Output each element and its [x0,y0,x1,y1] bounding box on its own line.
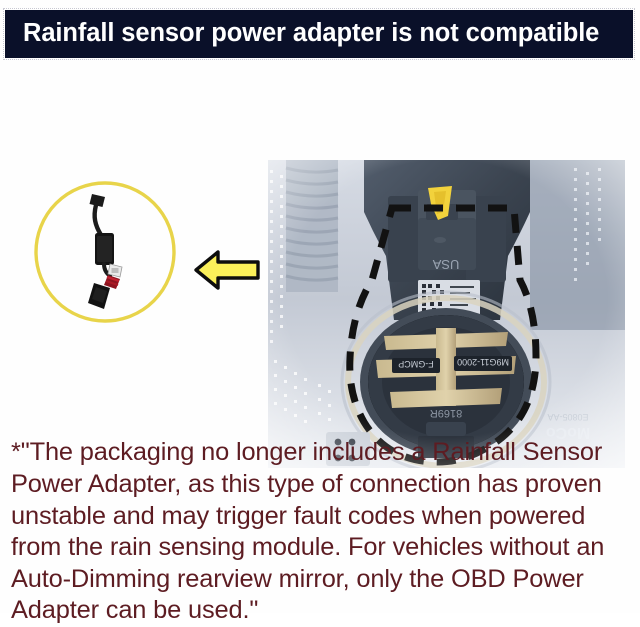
disclaimer-text: *"The packaging no longer includes a Rai… [11,437,633,627]
figure-row: USA [0,72,640,402]
left-arrow-icon [192,244,264,296]
header-banner: Rainfall sensor power adapter is not com… [3,8,635,60]
rainfall-sensor-power-adapter-icon [74,191,140,315]
adapter-callout [30,177,180,327]
page-title: Rainfall sensor power adapter is not com… [23,21,599,47]
header-banner-fill: Rainfall sensor power adapter is not com… [5,10,633,58]
rain-sensor-photo-art: USA [268,160,625,468]
rain-sensor-photo: USA [268,160,625,468]
